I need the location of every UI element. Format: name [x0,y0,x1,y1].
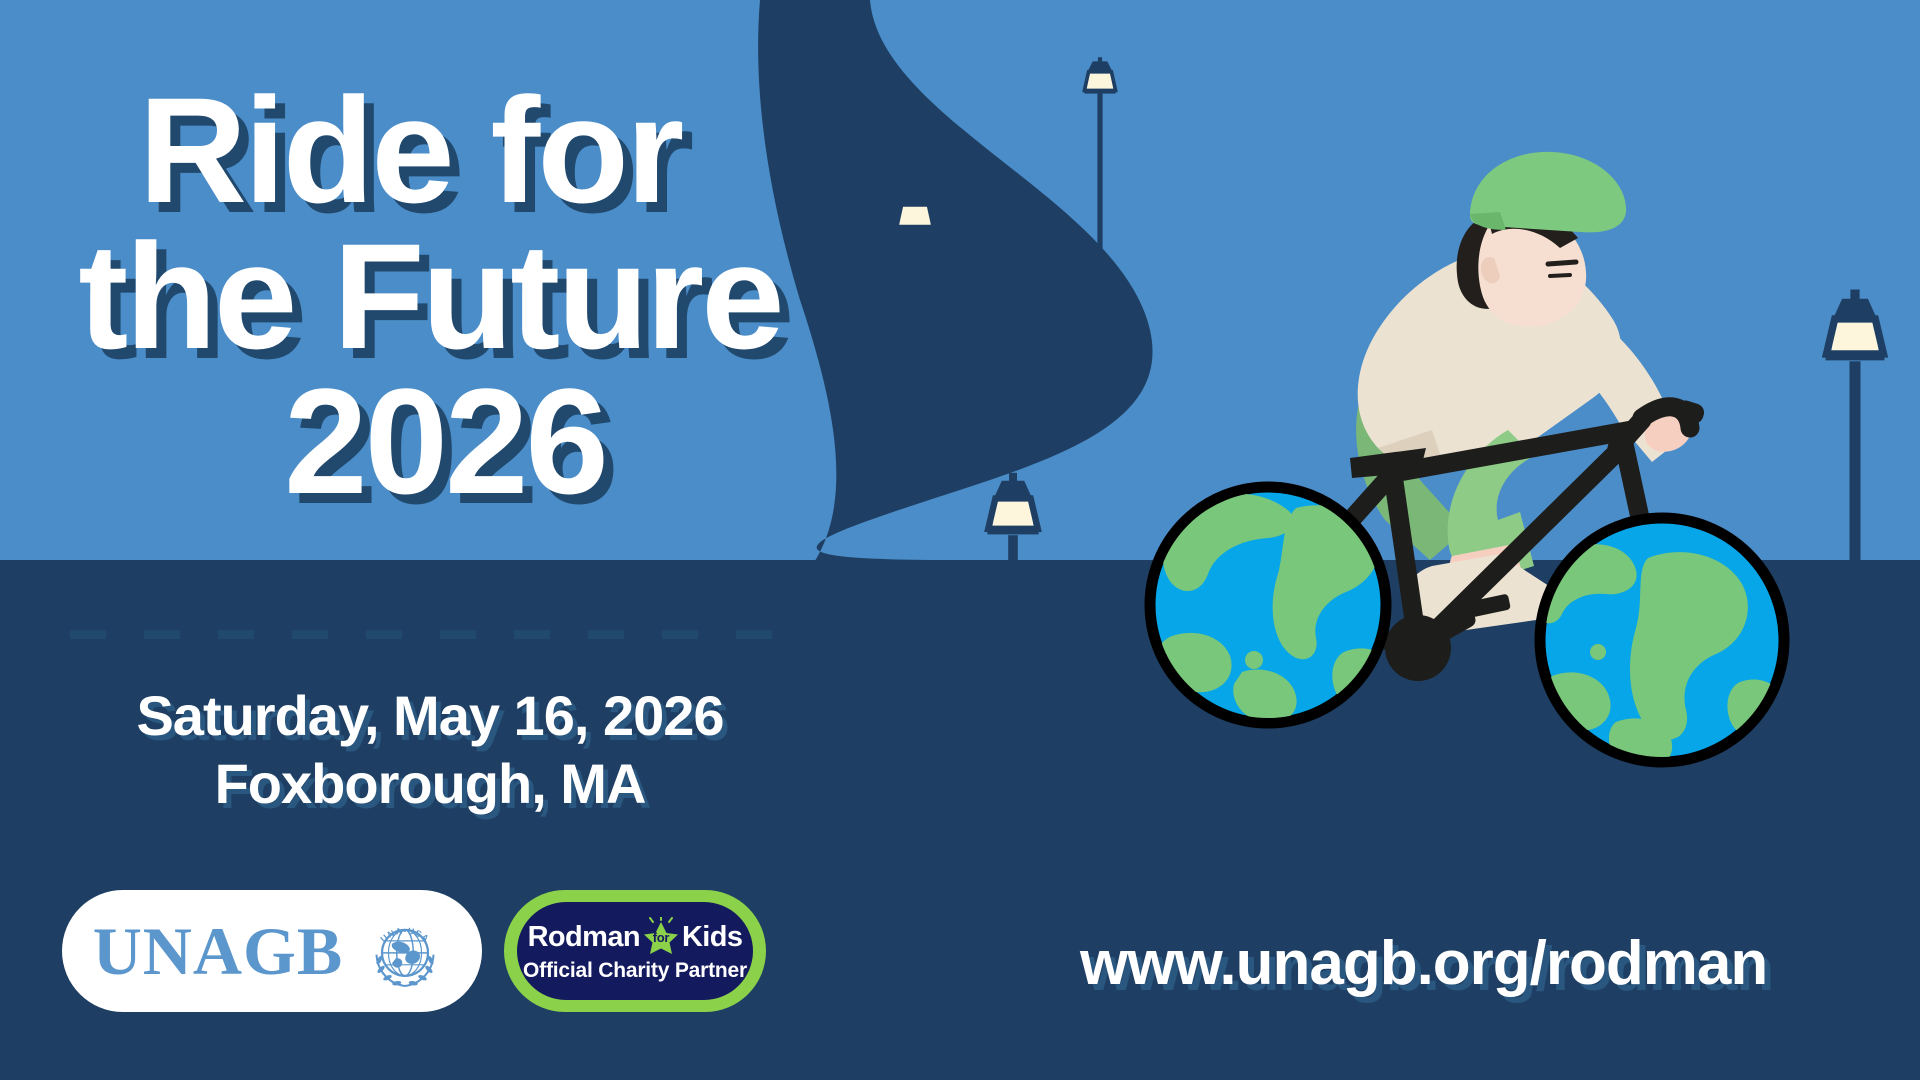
event-details: Saturday, May 16, 2026 Foxborough, MA [0,682,860,819]
rear-globe-wheel [1150,487,1392,723]
text-column: Ride for the Future 2026 Saturday, May 1… [0,0,880,1080]
poster-canvas: Ride for the Future 2026 Saturday, May 1… [0,0,1920,1080]
rodman-badge-inner: Rodman for [517,902,753,1000]
logo-strip: UNAGB [62,890,766,1012]
headline-line-1: Ride for [0,78,860,224]
rodman-for-kids-logo[interactable]: Rodman for [504,890,766,1012]
headline-line-3: 2026 [0,369,860,515]
rodman-name: Rodman [528,923,640,952]
website-url[interactable]: www.unagb.org/rodman [1080,928,1767,999]
dashed-divider [70,630,800,639]
unagb-wordmark: UNAGB [93,917,344,985]
star-for-label: for [641,931,681,944]
un-globe-emblem: UNA-USA [359,905,451,997]
event-location: Foxborough, MA [0,750,860,818]
rodman-title-row: Rodman for [528,917,743,957]
rodman-tagline: Official Charity Partner [523,958,747,984]
rodman-kids: Kids [682,923,742,952]
headline-line-2: the Future [0,224,860,370]
page-title: Ride for the Future 2026 [0,78,860,515]
event-date: Saturday, May 16, 2026 [0,682,860,750]
unagb-logo[interactable]: UNAGB [62,890,482,1012]
star-icon: for [641,917,681,957]
